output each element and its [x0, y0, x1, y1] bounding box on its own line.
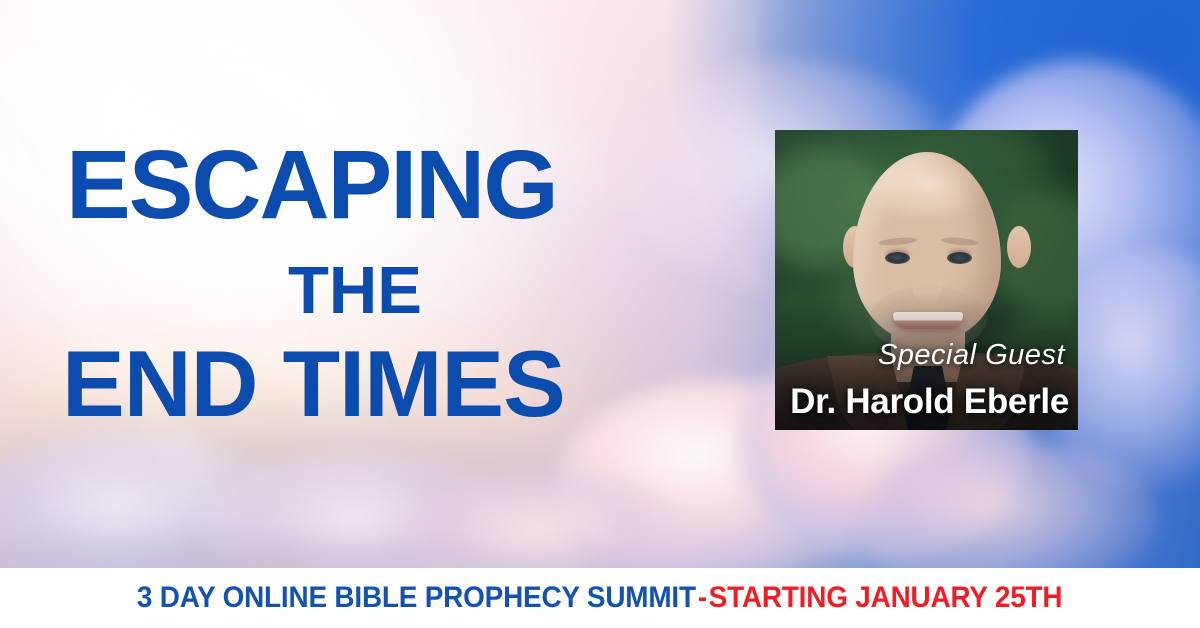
headline-group: ESCAPING THE END TIMES [0, 0, 760, 568]
bottom-bar-text: 3 DAY ONLINE BIBLE PROPHECY SUMMIT-START… [137, 581, 1063, 615]
bottom-info-bar: 3 DAY ONLINE BIBLE PROPHECY SUMMIT-START… [0, 568, 1200, 628]
special-guest-label: Special Guest [878, 339, 1065, 372]
speaker-name: Dr. Harold Eberle [790, 382, 1069, 422]
event-title: 3 DAY ONLINE BIBLE PROPHECY SUMMIT [137, 581, 696, 614]
headline-line-3: END TIMES [62, 337, 565, 431]
ear-right [1007, 226, 1031, 268]
event-date: STARTING JANUARY 25TH [709, 581, 1063, 614]
headline-line-2: THE [288, 257, 422, 324]
eye-right [947, 252, 972, 264]
eye-left [885, 252, 910, 264]
promo-banner: ESCAPING THE END TIMES Special Guest Dr.… [0, 0, 1200, 628]
title-separator: - [698, 581, 707, 614]
speaker-portrait: Special Guest Dr. Harold Eberle [775, 130, 1078, 430]
headline-line-1: ESCAPING [66, 136, 557, 233]
